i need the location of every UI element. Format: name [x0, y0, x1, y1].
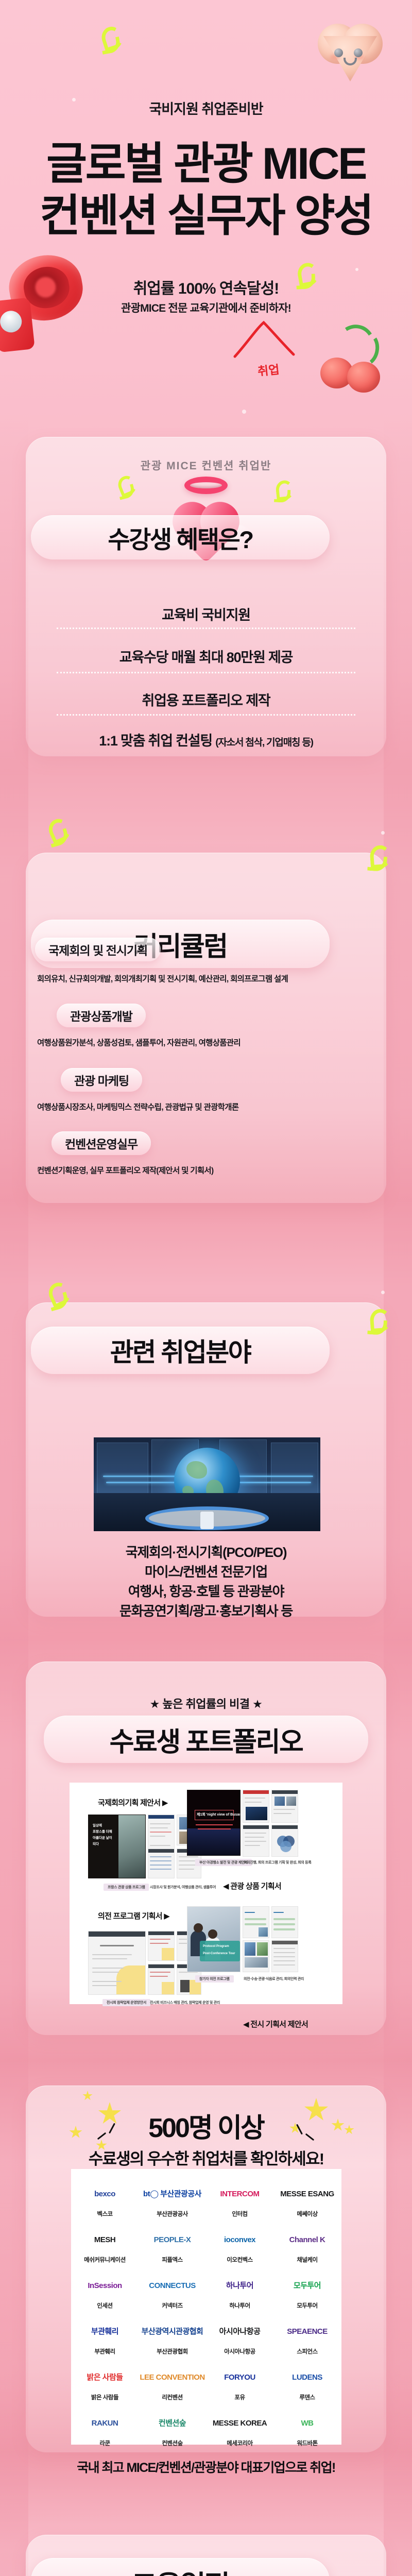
employer-logo-mark: InSession — [71, 2272, 139, 2300]
benefits-eyebrow: 관광 MICE 컨벤션 취업반 — [0, 457, 412, 473]
employer-logo-name: 채널케이 — [273, 2256, 341, 2264]
portfolio-thumb — [243, 1790, 269, 1823]
portfolio-thumb — [271, 1906, 298, 1938]
curriculum-desc: 회의유치, 신규회의개발, 회의개최기획 및 전시기획, 예산관리, 회의프로그… — [37, 973, 377, 984]
slide-title: Protocol Program — [203, 1945, 229, 1948]
benefit-divider — [57, 714, 355, 716]
employer-logo-mark: FORYOU — [206, 2364, 273, 2392]
jobfield-line: 마이스/컨벤션 전문기업 — [26, 1562, 386, 1581]
curriculum-tag: 컨벤션운영실무 — [51, 1131, 151, 1155]
employer-logo-item: bt◯ 부산관광공사부산관광공사 — [139, 2180, 206, 2218]
employer-logo-mark: RAKUN — [71, 2410, 139, 2437]
employer-logo-mark: 하나투어 — [206, 2272, 273, 2300]
hero-subtitle-2: 관광MICE 전문 교육기관에서 준비하자! — [0, 300, 412, 315]
employer-logo-mark: PEOPLE-X — [139, 2226, 206, 2254]
slide-title: Post-Conference Tour — [203, 1952, 235, 1955]
employer-logo-name: 부산관광공사 — [139, 2210, 206, 2218]
employer-logo-item: MESSE KOREA메세코리아 — [206, 2410, 273, 2447]
portfolio-thumb — [271, 1790, 298, 1823]
portfolio-thumb — [148, 1931, 175, 1961]
squiggle-icon — [365, 1307, 391, 1337]
employer-logo-mark: SPEAENCE — [273, 2318, 341, 2346]
employer-logo-item: 컨벤션숲컨벤션숲 — [139, 2410, 206, 2447]
jobfield-headline-pill: 관련 취업분야 — [31, 1327, 330, 1374]
benefit-text: 취업용 포트폴리오 제작 — [142, 693, 270, 708]
benefit-divider — [57, 628, 355, 629]
benefit-item: 취업용 포트폴리오 제작 — [26, 689, 386, 709]
employer-logo-mark: 컨벤션숲 — [139, 2410, 206, 2437]
squiggle-icon — [271, 479, 294, 504]
employer-logo-item: 부산광역시관광협회부산관광협회 — [139, 2318, 206, 2355]
hero-title: 글로벌 관광 MICE 컨벤션 실무자 양성 — [0, 138, 412, 243]
decor-dot — [381, 1291, 385, 1294]
portfolio-thumb — [88, 1931, 146, 1995]
employer-logo-name: 하나투어 — [206, 2301, 273, 2310]
curriculum-tag: 관광 마케팅 — [61, 1068, 142, 1092]
employer-logo-item: 밝은 사람들밝은 사람들 — [71, 2364, 139, 2401]
employer-logo-name: 포유 — [206, 2393, 273, 2401]
employer-logo-item: bexco벡스코 — [71, 2180, 139, 2218]
benefit-divider — [57, 672, 355, 673]
squiggle-icon — [365, 843, 391, 874]
employer-logo-mark: Channel K — [273, 2226, 341, 2254]
employer-logo-mark: 부관훼리 — [71, 2318, 139, 2346]
schedule-headline: 교육일정 — [132, 2563, 229, 2576]
employer-logo-mark: CONNECTUS — [139, 2272, 206, 2300]
employer-logo-mark: 부산광역시관광협회 — [139, 2318, 206, 2346]
cherries-icon — [309, 319, 397, 402]
employer-logo-name: 메쎄이상 — [273, 2210, 341, 2218]
employer-logo-item: MESSE ESANG메쎄이상 — [273, 2180, 341, 2218]
employer-logo-item: WB워드바톤 — [273, 2410, 341, 2447]
employer-logo-item: CONNECTUS커넥터즈 — [139, 2272, 206, 2310]
employer-logo-name: 피플엑스 — [139, 2256, 206, 2264]
benefit-item: 1:1 맞춤 취업 컨설팅 (자소서 첨삭, 기업매칭 등) — [26, 730, 386, 750]
employer-logo-name: 리컨벤션 — [139, 2393, 206, 2401]
employer-logo-name: 메세코리아 — [206, 2439, 273, 2447]
employer-logo-mark: 밝은 사람들 — [71, 2364, 139, 2392]
hero-kicker: 국비지원 취업준비반 — [0, 98, 412, 118]
employer-logo-item: PEOPLE-X피플엑스 — [139, 2226, 206, 2264]
employer-logo-item: 하나투어하나투어 — [206, 2272, 273, 2310]
promo-page: 국비지원 취업준비반 글로벌 관광 MICE 컨벤션 실무자 양성 취업률 10… — [0, 0, 412, 2576]
employers-sub-headline: 수료생의 우수한 취업처를 확인하세요! — [26, 2146, 386, 2169]
portfolio-label-d: ◀ 전시 기획서 제안서 — [243, 2019, 308, 2029]
portfolio-thumb — [148, 1964, 175, 1995]
employer-logo-name: 메쉬커뮤니케이션 — [71, 2256, 139, 2264]
benefit-text: 교육비 국비지원 — [162, 607, 250, 623]
portfolio-label-b: ◀ 관광 상품 기획서 — [223, 1880, 281, 1891]
squiggle-icon — [114, 475, 136, 500]
employer-logo-name: 루덴스 — [273, 2393, 341, 2401]
curriculum-desc: 여행상품원가분석, 상품성검토, 샘플투어, 자원관리, 여행상품관리 — [37, 1037, 377, 1048]
benefits-headline-pill: 수강생 혜택은? — [31, 515, 330, 560]
employer-logo-name: 인터컴 — [206, 2210, 273, 2218]
conference-photo — [94, 1437, 320, 1531]
benefit-text: 교육수당 매월 최대 80만원 제공 — [119, 650, 293, 665]
employer-logo-item: LUDENS루덴스 — [273, 2364, 341, 2401]
portfolio-caption: 전시회 비즈니스 매칭 관리, 참략업체 운영 및 관리 — [150, 2000, 220, 2005]
jobfield-headline: 관련 취업분야 — [110, 1332, 250, 1369]
jobfield-line: 여행사, 항공·호텔 등 관광분야 — [26, 1581, 386, 1600]
employer-logo-mark: MESSE ESANG — [273, 2180, 341, 2208]
employer-logo-name: 부관훼리 — [71, 2347, 139, 2355]
curriculum-desc: 여행상품시장조사, 마케팅믹스 전략수립, 관광법규 및 관광학개론 — [37, 1101, 377, 1112]
portfolio-eyebrow: ★ 높은 취업률의 비결 ★ — [0, 1695, 412, 1711]
slide-title: 제1회 'night view of Busan' — [197, 1812, 241, 1817]
employer-logo-name: 아시아나항공 — [206, 2347, 273, 2355]
employer-logo-name: 라쿤 — [71, 2439, 139, 2447]
employer-logo-name: 인세션 — [71, 2301, 139, 2310]
squiggle-icon — [44, 1281, 71, 1312]
employers-count-headline: 500명 이상 — [26, 2106, 386, 2145]
employer-logo-name: 벡스코 — [71, 2210, 139, 2218]
employers-tagline: 국내 최고 MICE/컨벤션/관광분야 대표기업으로 취업! — [26, 2458, 386, 2476]
employer-logo-item: FORYOU포유 — [206, 2364, 273, 2401]
employer-logo-item: Channel K채널케이 — [273, 2226, 341, 2264]
employer-logo-mark: bexco — [71, 2180, 139, 2208]
employer-logo-item: ioconvex이오컨벡스 — [206, 2226, 273, 2264]
employer-logo-item: 부관훼리부관훼리 — [71, 2318, 139, 2355]
employer-logo-mark: ioconvex — [206, 2226, 273, 2254]
curriculum-tag: 관광상품개발 — [57, 1004, 146, 1027]
employer-logo-name: 부산관광협회 — [139, 2347, 206, 2355]
portfolio-thumb: 일상에 프랑스를 더해 아름다운 날이 되다 — [88, 1815, 146, 1878]
hero-title-line-2: 컨벤션 실무자 양성 — [0, 190, 412, 242]
employer-logo-item: RAKUN라쿤 — [71, 2410, 139, 2447]
employer-logo-item: SPEAENCE스피언스 — [273, 2318, 341, 2355]
benefit-item: 교육수당 매월 최대 80만원 제공 — [26, 646, 386, 666]
employer-logo-item: INTERCOM인터컴 — [206, 2180, 273, 2218]
decor-dot — [355, 268, 358, 271]
portfolio-thumb — [243, 1940, 269, 1972]
squiggle-icon — [98, 26, 123, 55]
portfolio-thumb: 제1회 'night view of Busan' — [187, 1790, 241, 1856]
benefits-headline: 수강생 혜택은? — [108, 520, 252, 555]
curriculum-desc: 컨벤션기획운영, 실무 포트폴리오 제작(제안서 및 기획서) — [37, 1164, 377, 1176]
halo-icon — [184, 477, 228, 494]
portfolio-thumb — [148, 1849, 175, 1878]
employer-logo-mark: WB — [273, 2410, 341, 2437]
portfolio-caption: 시장조사 및 원가분석, 여행상품 관리, 샘플투어 — [150, 1885, 216, 1890]
portfolio-caption: 참가자 의전 프로그램 — [195, 1975, 234, 1982]
benefit-text: 1:1 맞춤 취업 컨설팅 — [99, 733, 212, 749]
employer-logo-item: LEE CONVENTION리컨벤션 — [139, 2364, 206, 2401]
employer-logo-mark: MESH — [71, 2226, 139, 2254]
jobfield-line: 국제회의·전시기획(PCO/PEO) — [26, 1542, 386, 1561]
employer-logo-item: 아시아나항공아시아나항공 — [206, 2318, 273, 2355]
employer-logo-mark: MESSE KOREA — [206, 2410, 273, 2437]
benefit-item: 교육비 국비지원 — [26, 604, 386, 624]
employer-logo-name: 컨벤션숲 — [139, 2439, 206, 2447]
employer-logo-name: 이오컨벡스 — [206, 2256, 273, 2264]
smiling-heart-icon — [317, 21, 384, 85]
schedule-headline-pill: 교육일정 — [31, 2558, 330, 2576]
employer-logo-mark: LEE CONVENTION — [139, 2364, 206, 2392]
employer-logo-item: MESH메쉬커뮤니케이션 — [71, 2226, 139, 2264]
portfolio-thumb — [243, 1906, 269, 1938]
portfolio-thumb — [271, 1825, 298, 1857]
employer-logo-mark: INTERCOM — [206, 2180, 273, 2208]
employer-logo-grid: bexco벡스코bt◯ 부산관광공사부산관광공사INTERCOM인터컴MESSE… — [71, 2169, 341, 2445]
employer-logo-name: 스피언스 — [273, 2347, 341, 2355]
benefit-note: (자소서 첨삭, 기업매칭 등) — [215, 737, 313, 748]
portfolio-sheet: 국제회의기획 제안서 ▶ 일상에 프랑스를 더해 아름다운 날이 되다 — [70, 1783, 342, 2004]
portfolio-caption: 회의진행, 회의 프로그램 기획 및 완성, 회의 등록 — [244, 1860, 311, 1865]
portfolio-caption: 프랑스 관광 상품 프로그램 — [104, 1884, 149, 1891]
employer-logo-item: InSession인세션 — [71, 2272, 139, 2310]
employer-logo-mark: bt◯ 부산관광공사 — [139, 2180, 206, 2208]
hero-handwritten-note: 취업 — [256, 360, 280, 379]
portfolio-caption: 전시회 참략업체 운영방안서 — [102, 1999, 150, 2006]
employer-logo-mark: 아시아나항공 — [206, 2318, 273, 2346]
jobfield-line: 문화공연기획/광고·홍보기획사 등 — [26, 1601, 386, 1620]
employer-logo-item: 모두투어모두투어 — [273, 2272, 341, 2310]
portfolio-thumb — [243, 1825, 269, 1857]
squiggle-icon — [44, 818, 71, 848]
decor-dot — [381, 831, 385, 835]
employer-logo-name: 밝은 사람들 — [71, 2393, 139, 2401]
portfolio-thumb — [271, 1940, 298, 1972]
curriculum-tag: 국제회의 및 전시기획 — [35, 938, 161, 961]
portfolio-headline-pill: 수료생 포트폴리오 — [44, 1716, 368, 1763]
hero-section: 국비지원 취업준비반 글로벌 관광 MICE 컨벤션 실무자 양성 취업률 10… — [0, 0, 412, 443]
portfolio-headline: 수료생 포트폴리오 — [110, 1720, 303, 1759]
employer-logo-mark: 모두투어 — [273, 2272, 341, 2300]
hero-subtitle-1: 취업률 100% 연속달성! — [0, 276, 412, 298]
employer-logo-name: 커넥터즈 — [139, 2301, 206, 2310]
portfolio-caption: 의전·수송·관광·식음료 관리, 회의인력 관리 — [244, 1976, 304, 1981]
portfolio-label-c: 의전 프로그램 기획서 ▶ — [98, 1910, 169, 1921]
decor-dot — [242, 410, 246, 414]
portfolio-thumb: Protocol Program Post-Conference Tour — [187, 1906, 241, 1972]
employer-logo-name: 모두투어 — [273, 2301, 341, 2310]
hero-title-line-1: 글로벌 관광 MICE — [0, 138, 412, 190]
portfolio-label-a: 국제회의기획 제안서 ▶ — [98, 1797, 168, 1808]
employer-logo-name: 워드바톤 — [273, 2439, 341, 2447]
employer-logo-mark: LUDENS — [273, 2364, 341, 2392]
handwritten-arrow-icon — [233, 319, 300, 361]
